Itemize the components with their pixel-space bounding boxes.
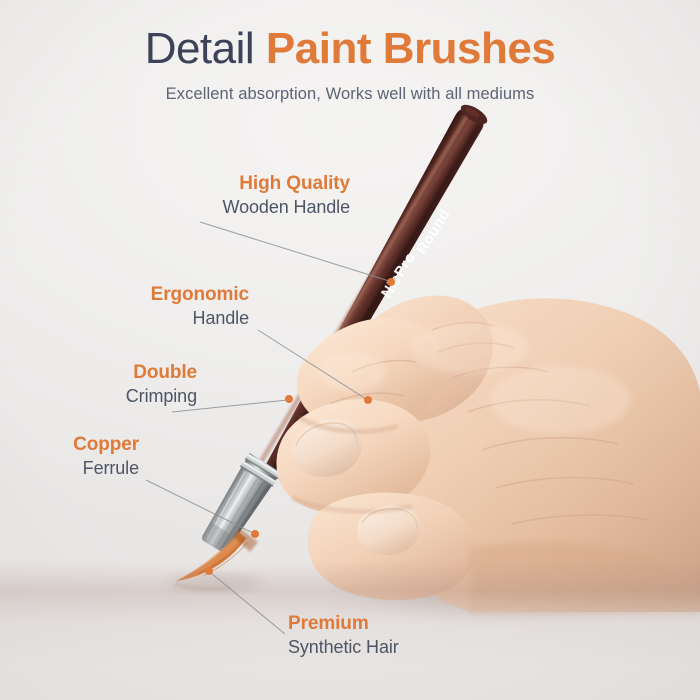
callout-double-subtitle: Crimping <box>0 386 197 408</box>
callout-high-quality-title: High Quality <box>0 172 350 195</box>
product-photo: NicPro Round 1 <box>0 0 700 700</box>
callout-copper-subtitle: Ferrule <box>0 458 139 480</box>
callout-ergonomic-subtitle: Handle <box>0 308 249 330</box>
page-subtitle: Excellent absorption, Works well with al… <box>0 85 700 104</box>
callout-high-quality-subtitle: Wooden Handle <box>0 197 350 219</box>
infographic-canvas: NicPro Round 1 <box>0 0 700 700</box>
title-part-2: Paint Brushes <box>266 24 555 73</box>
callout-double-title: Double <box>0 361 197 384</box>
callout-double-crimping: Double Crimping <box>0 361 197 408</box>
callout-ergonomic-title: Ergonomic <box>0 283 249 306</box>
page-title: Detail Paint Brushes <box>0 22 700 76</box>
callout-premium-hair: Premium Synthetic Hair <box>288 612 548 659</box>
callout-high-quality: High Quality Wooden Handle <box>0 172 350 219</box>
callout-premium-title: Premium <box>288 612 548 635</box>
callout-premium-subtitle: Synthetic Hair <box>288 637 548 659</box>
header: Detail Paint Brushes Excellent absorptio… <box>0 22 700 104</box>
callout-ergonomic: Ergonomic Handle <box>0 283 249 330</box>
callout-copper-ferrule: Copper Ferrule <box>0 433 139 480</box>
callout-copper-title: Copper <box>0 433 139 456</box>
hand <box>276 296 700 614</box>
title-part-1: Detail <box>145 24 255 73</box>
